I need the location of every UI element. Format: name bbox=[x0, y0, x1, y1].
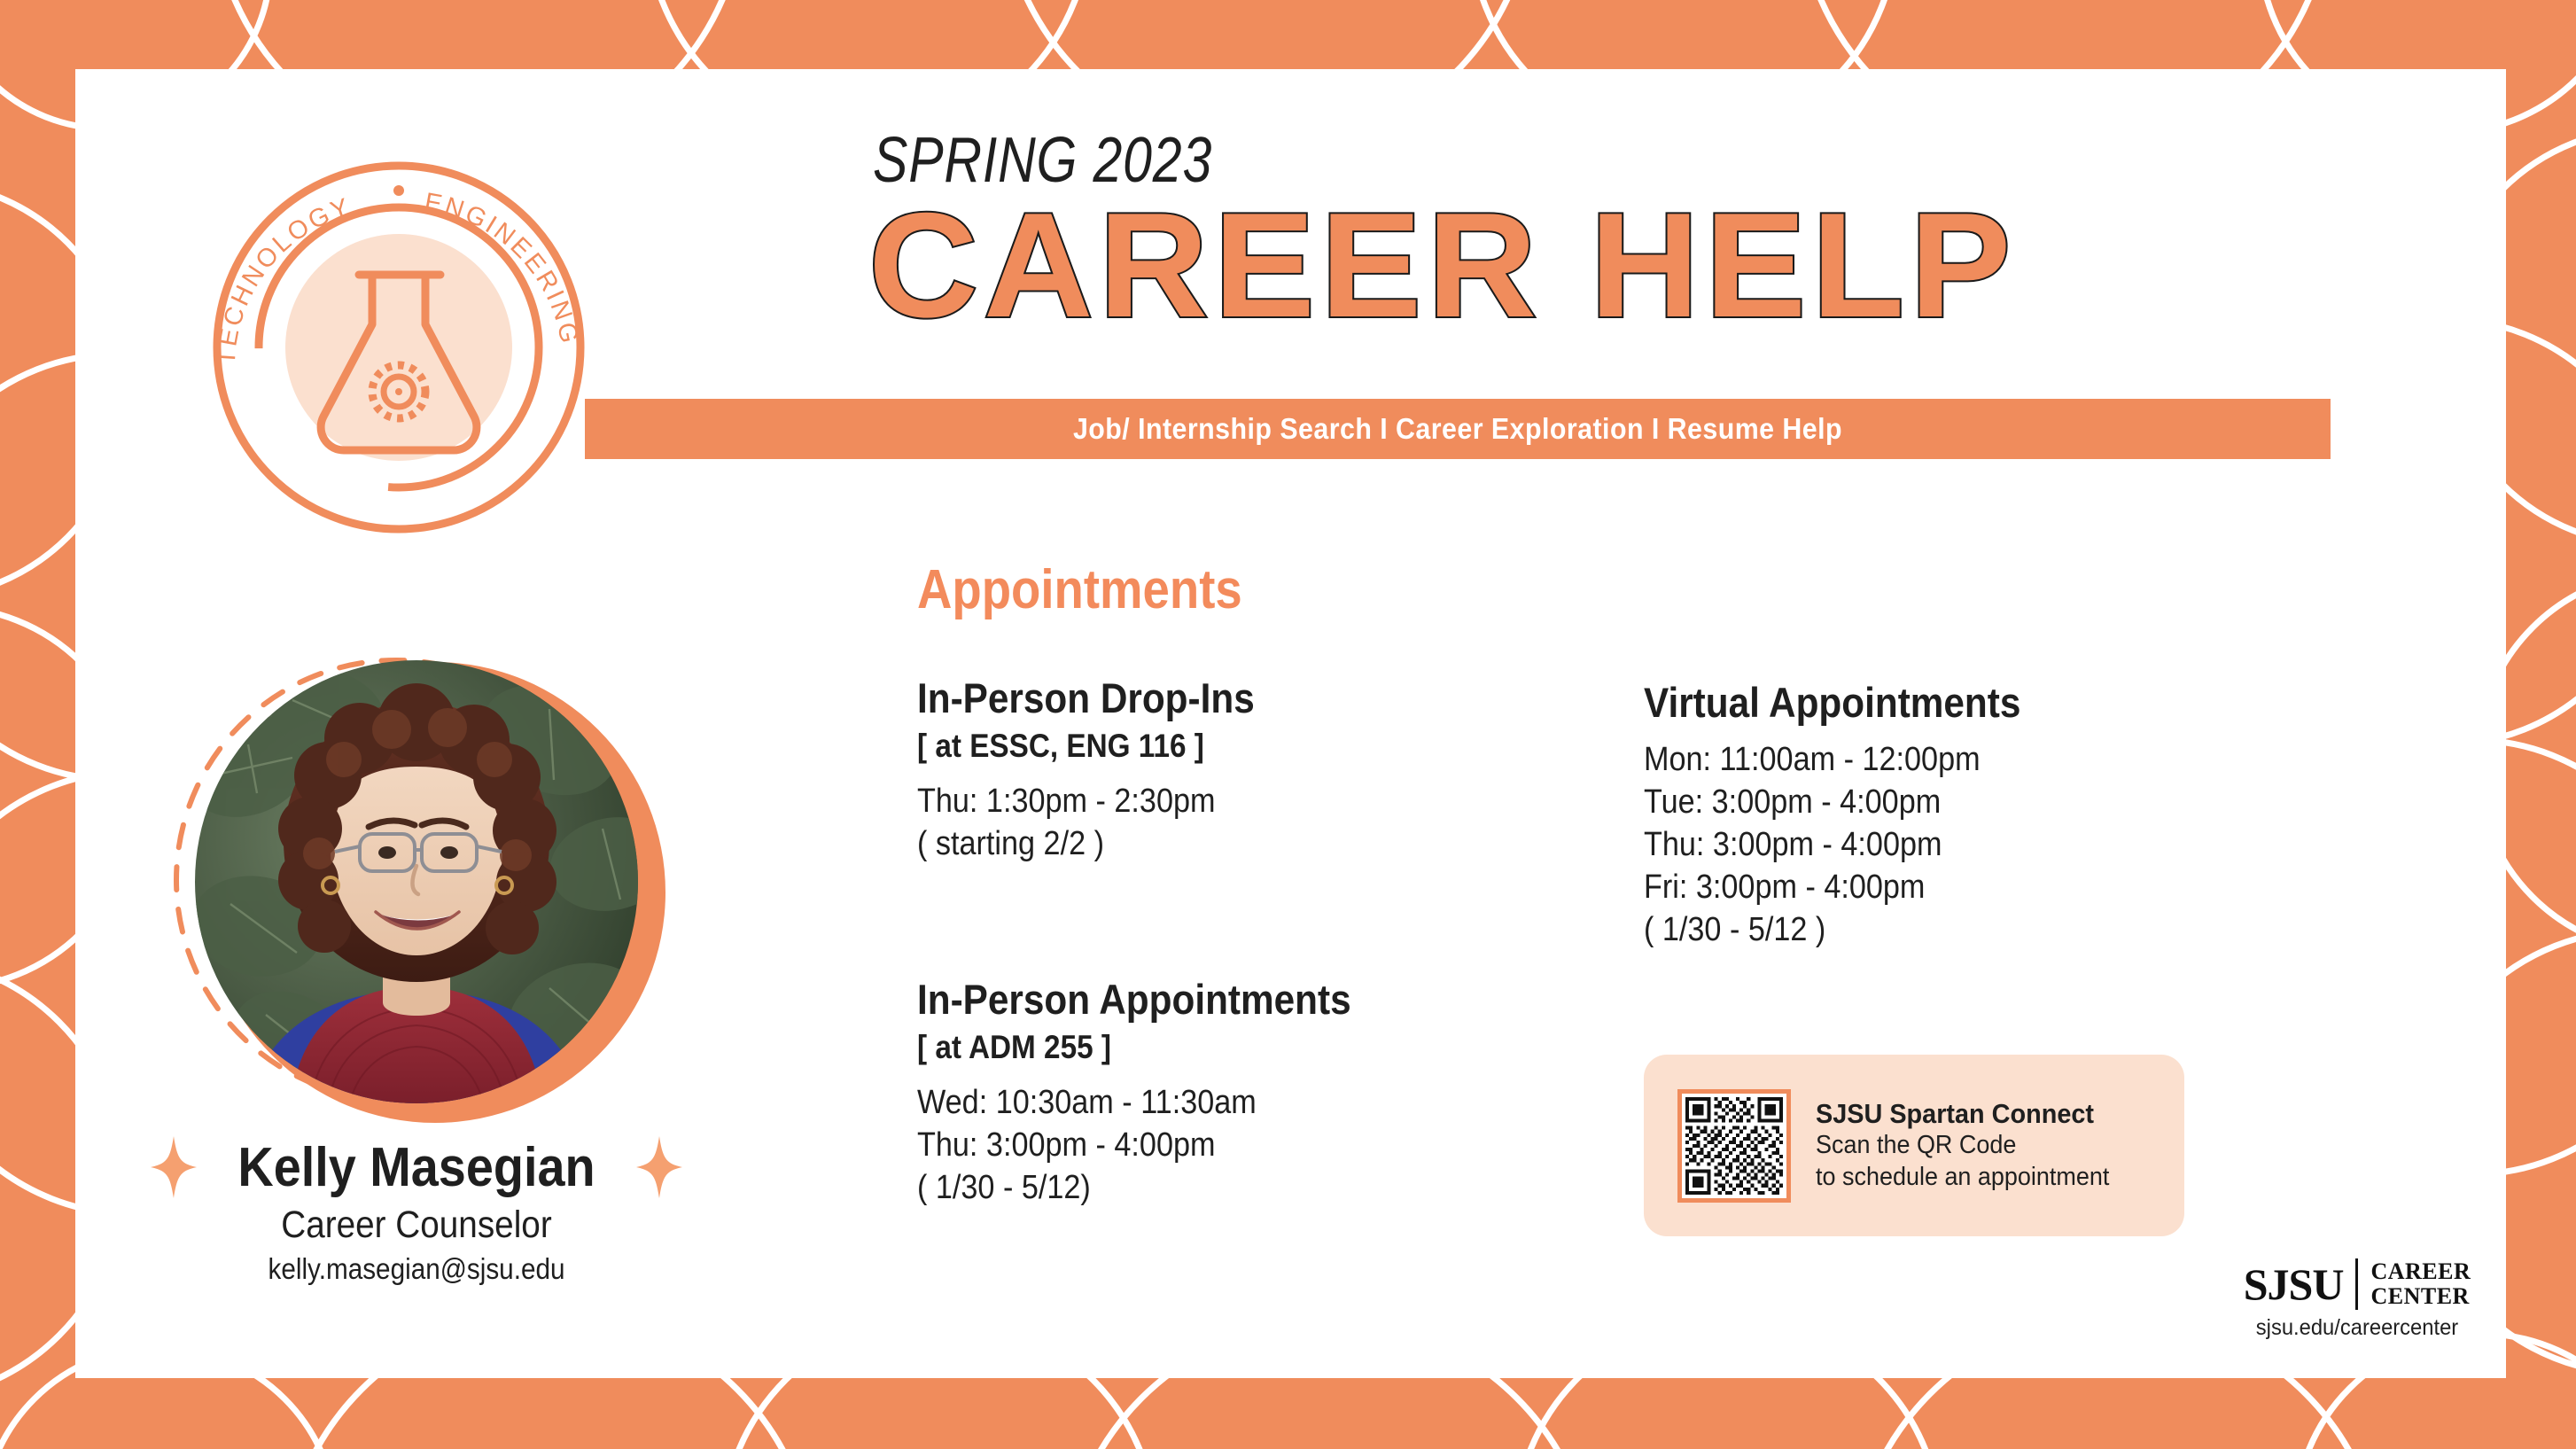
career-center-url[interactable]: sjsu.edu/careercenter bbox=[2218, 1315, 2496, 1341]
career-center-lockup: CAREER CENTER bbox=[2370, 1259, 2471, 1309]
schedule-line: ( 1/30 - 5/12 ) bbox=[1644, 909, 2020, 952]
schedule-line: Fri: 3:00pm - 4:00pm bbox=[1644, 867, 2020, 909]
schedule-line: Thu: 1:30pm - 2:30pm bbox=[917, 781, 1255, 823]
schedule-line: ( starting 2/2 ) bbox=[917, 823, 1255, 866]
qr-card-line1: Scan the QR Code bbox=[1816, 1130, 2109, 1162]
appointment-column-virtual-appointments: Virtual Appointments Mon: 11:00am - 12:0… bbox=[1644, 678, 2063, 951]
appointment-column-in-person-drop-ins: In-Person Drop-Ins [ at ESSC, ENG 116 ] … bbox=[917, 674, 1292, 866]
schedule-line: Mon: 11:00am - 12:00pm bbox=[1644, 739, 2020, 782]
appointment-column-in-person-appointments: In-Person Appointments [ at ADM 255 ] We… bbox=[917, 975, 1399, 1210]
logo-divider bbox=[2355, 1258, 2358, 1310]
career-center-line2: CENTER bbox=[2370, 1284, 2471, 1309]
qr-card-title: SJSU Spartan Connect bbox=[1816, 1098, 2109, 1130]
page-title-career-help: CAREER HELP bbox=[868, 191, 2017, 339]
schedule-line: Thu: 3:00pm - 4:00pm bbox=[1644, 824, 2020, 867]
counselor-photo-block bbox=[155, 651, 704, 1148]
qr-card-line2: to schedule an appointment bbox=[1816, 1162, 2109, 1194]
schedule-line: Wed: 10:30am - 11:30am bbox=[917, 1082, 1351, 1125]
column-location: [ at ADM 255 ] bbox=[917, 1029, 1351, 1066]
sparkle-icon bbox=[634, 1134, 684, 1200]
sjsu-wordmark: SJSU bbox=[2244, 1262, 2344, 1306]
column-heading: In-Person Drop-Ins bbox=[917, 674, 1255, 722]
column-heading: Virtual Appointments bbox=[1644, 678, 2020, 727]
services-banner-text: Job/ Internship Search I Career Explorat… bbox=[655, 399, 2261, 459]
column-heading: In-Person Appointments bbox=[917, 975, 1351, 1024]
avatar bbox=[195, 660, 638, 1103]
counselor-email[interactable]: kelly.masegian@sjsu.edu bbox=[113, 1252, 720, 1286]
sparkle-icon bbox=[149, 1134, 198, 1200]
qr-code-icon[interactable] bbox=[1677, 1089, 1791, 1203]
spartan-connect-qr-card[interactable]: SJSU Spartan Connect Scan the QR Code to… bbox=[1644, 1055, 2184, 1236]
technology-engineering-badge: TECHNOLOGY ENGINEERING bbox=[182, 151, 616, 541]
appointments-section-title: Appointments bbox=[917, 558, 1242, 621]
career-center-line1: CAREER bbox=[2370, 1259, 2471, 1284]
sjsu-career-center-logo: SJSU CAREER CENTER sjsu.edu/careercenter bbox=[2211, 1258, 2503, 1341]
counselor-role: Career Counselor bbox=[113, 1204, 720, 1247]
schedule-line: Thu: 3:00pm - 4:00pm bbox=[917, 1125, 1351, 1167]
services-banner: Job/ Internship Search I Career Explorat… bbox=[585, 399, 2331, 459]
schedule-line: ( 1/30 - 5/12) bbox=[917, 1167, 1351, 1210]
counselor-name: Kelly Masegian bbox=[237, 1136, 595, 1199]
schedule-line: Tue: 3:00pm - 4:00pm bbox=[1644, 782, 2020, 824]
column-location: [ at ESSC, ENG 116 ] bbox=[917, 728, 1255, 765]
qr-card-text: SJSU Spartan Connect Scan the QR Code to… bbox=[1816, 1098, 2131, 1193]
counselor-info: Kelly Masegian Career Counselor kelly.ma… bbox=[80, 1134, 753, 1286]
